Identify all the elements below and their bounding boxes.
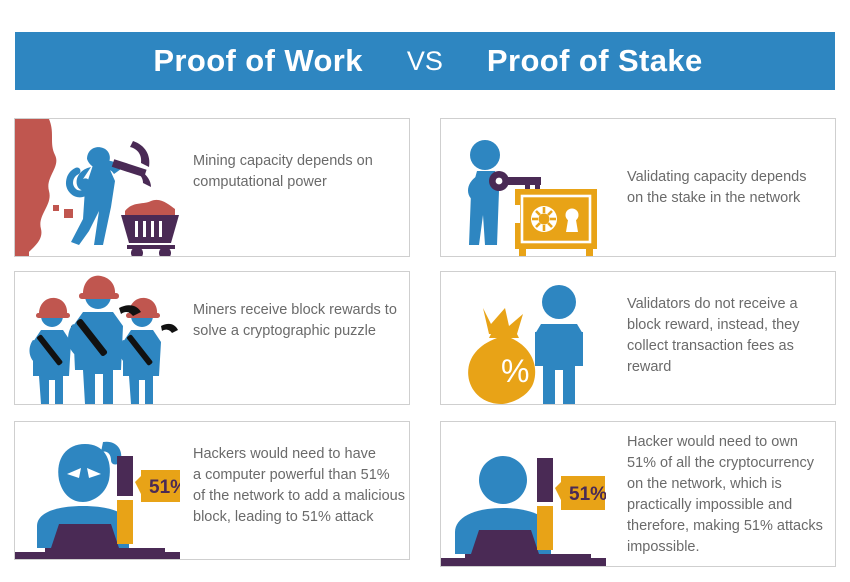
illustration-three-miners-with-helmets <box>15 272 180 404</box>
card-pow-capacity: Mining capacity depends on computational… <box>14 118 410 257</box>
card-pos-capacity: Validating capacity depends on the stake… <box>440 118 836 257</box>
illustration-hacker-at-laptop-with-badge-2: 51% <box>441 422 606 566</box>
comparison-grid: Mining capacity depends on computational… <box>0 0 850 582</box>
badge-51-percent-text-2: 51% <box>569 484 606 505</box>
card-text-pow-attack: Hackers would need to have a computer po… <box>193 444 410 528</box>
illustration-person-with-key-and-safe <box>441 119 606 256</box>
badge-51-percent-text: 51% <box>149 477 180 498</box>
card-text-pos-capacity: Validating capacity depends on the stake… <box>627 167 832 209</box>
money-bag-percent-symbol: % <box>501 353 529 389</box>
card-text-pos-attack: Hacker would need to own 51% of all the … <box>627 432 832 558</box>
card-text-pow-capacity: Mining capacity depends on computational… <box>193 151 408 193</box>
illustration-miner-with-pickaxe-and-carts <box>15 119 180 256</box>
card-text-pow-rewards: Miners receive block rewards to solve a … <box>193 300 408 342</box>
card-pos-attack: 51% Hacker would need to own 51% of all … <box>440 421 836 567</box>
card-text-pos-rewards: Validators do not receive a block reward… <box>627 294 827 378</box>
card-pow-rewards: Miners receive block rewards to solve a … <box>14 271 410 405</box>
illustration-hacker-at-laptop-with-badge: 51% <box>15 422 180 559</box>
card-pos-rewards: % Validators do not receive a block rewa… <box>440 271 836 405</box>
illustration-money-bag-and-person: % <box>441 272 606 404</box>
card-pow-attack: 51% Hackers would need to have a compute… <box>14 421 410 560</box>
